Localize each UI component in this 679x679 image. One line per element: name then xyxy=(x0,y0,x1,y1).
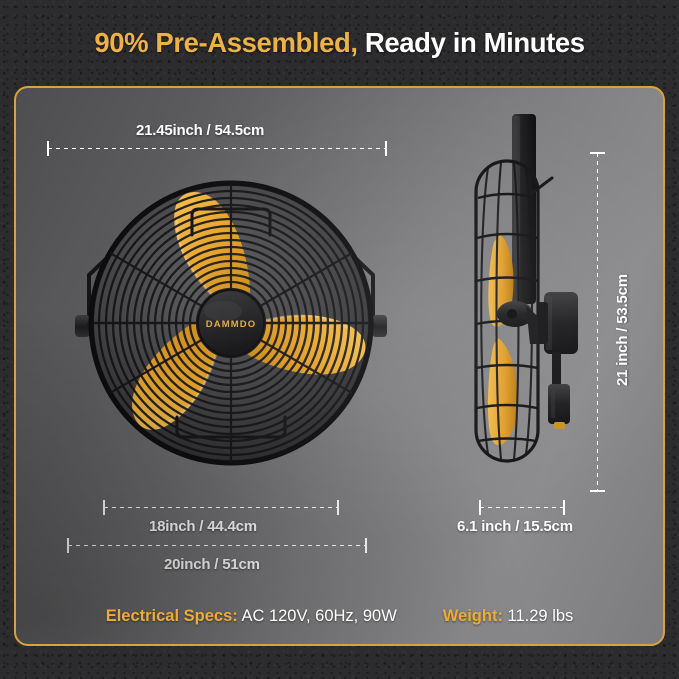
spec-electrical-value: AC 120V, 60Hz, 90W xyxy=(241,607,396,625)
spec-weight: Weight: 11.29 lbs xyxy=(443,607,574,626)
dim-label-front-base-width: 20inch / 51cm xyxy=(164,556,260,573)
dim-label-front-grille-width: 18inch / 44.4cm xyxy=(149,518,257,535)
dim-cap-left xyxy=(47,141,49,156)
dim-cap-right xyxy=(337,500,339,515)
dim-cap-top xyxy=(590,152,605,154)
spec-weight-value: 11.29 lbs xyxy=(508,607,574,625)
spec-electrical: Electrical Specs: AC 120V, 60Hz, 90W xyxy=(106,607,397,626)
motor-housing xyxy=(538,292,578,354)
product-photo-area: DAMMDO xyxy=(16,88,663,593)
dim-label-side-depth: 6.1 inch / 15.5cm xyxy=(457,518,573,535)
control-box xyxy=(548,352,570,429)
dim-line xyxy=(68,545,366,546)
specs-bar: Electrical Specs: AC 120V, 60Hz, 90W Wei… xyxy=(16,589,663,644)
dim-cap-right xyxy=(563,500,565,515)
fan-side-view xyxy=(468,106,598,496)
dim-line xyxy=(597,153,598,492)
spec-electrical-label: Electrical Specs: xyxy=(106,607,238,625)
tilt-hinge xyxy=(497,301,542,344)
fan-front-view: DAMMDO xyxy=(71,163,391,483)
product-card: DAMMDO xyxy=(14,86,665,646)
brand-logo: DAMMDO xyxy=(206,319,256,330)
spec-weight-label: Weight: xyxy=(443,607,503,625)
dim-cap-right xyxy=(385,141,387,156)
dim-line xyxy=(104,507,338,508)
infographic-page: 90% Pre-Assembled, Ready in Minutes xyxy=(0,0,679,679)
page-title: 90% Pre-Assembled, Ready in Minutes xyxy=(94,27,584,59)
dim-line xyxy=(48,148,386,149)
dim-line xyxy=(480,507,564,508)
header-banner: 90% Pre-Assembled, Ready in Minutes xyxy=(0,0,679,86)
dim-cap-right xyxy=(365,538,367,553)
title-accent-text: 90% Pre-Assembled, xyxy=(94,27,357,58)
title-plain-text: Ready in Minutes xyxy=(365,27,585,58)
dim-cap-left xyxy=(479,500,481,515)
dim-cap-left xyxy=(67,538,69,553)
motor-hub: DAMMDO xyxy=(198,290,264,356)
dim-label-side-height: 21 inch / 53.5cm xyxy=(614,274,631,386)
dim-label-front-outer-width: 21.45inch / 54.5cm xyxy=(136,122,264,139)
dim-cap-left xyxy=(103,500,105,515)
dim-cap-bottom xyxy=(590,490,605,492)
